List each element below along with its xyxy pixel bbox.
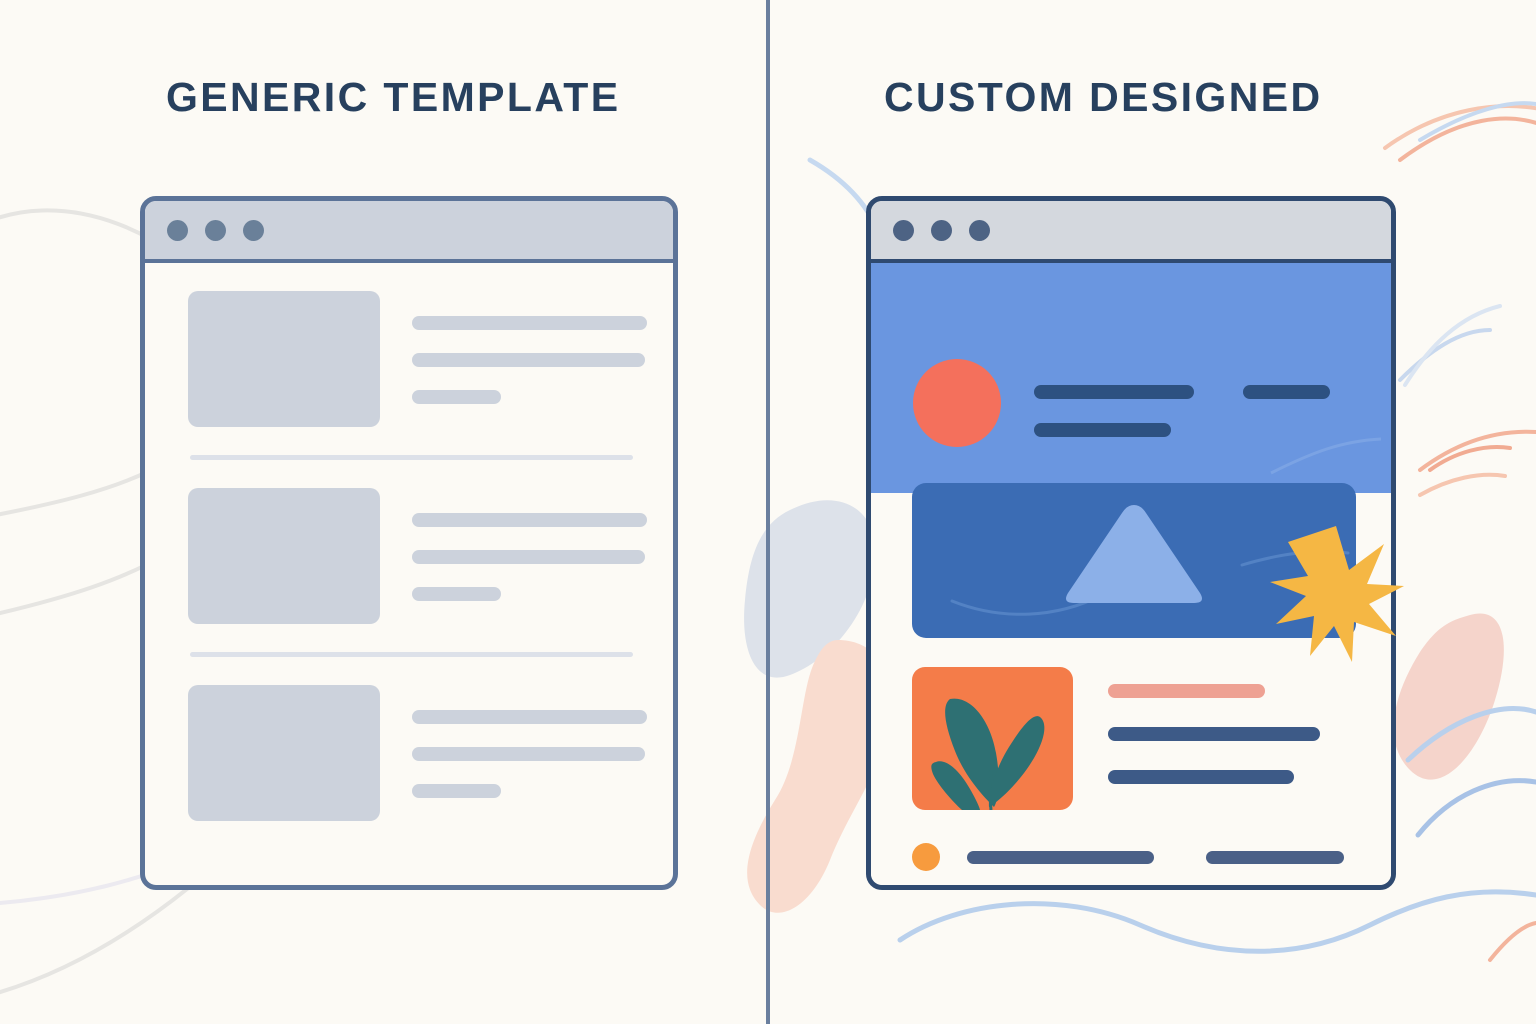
bullet-list-item[interactable] <box>912 843 1367 871</box>
bullet-text-line <box>967 851 1154 864</box>
plant-leaves-icon <box>912 667 1073 810</box>
window-dot-minimize-icon[interactable] <box>205 220 226 241</box>
decor-curve-coral-lower <box>1430 447 1510 470</box>
window-dot-close-icon[interactable] <box>893 220 914 241</box>
generic-window-titlebar <box>145 201 673 263</box>
decor-curve-blue-3 <box>1408 709 1536 760</box>
hero-nav-bar[interactable] <box>1243 385 1330 399</box>
left-panel-title: GENERIC TEMPLATE <box>166 74 621 121</box>
right-panel-title: CUSTOM DESIGNED <box>884 74 1322 121</box>
hero-logo-circle <box>913 359 1001 447</box>
image-placeholder <box>188 488 380 624</box>
starburst-accent-icon <box>1266 524 1406 664</box>
text-placeholder-line <box>412 587 501 601</box>
generic-list-item[interactable] <box>145 263 673 427</box>
image-placeholder <box>188 685 380 821</box>
comparison-graphic: GENERIC TEMPLATE CUSTOM DESIGNED <box>0 0 1536 1024</box>
bullet-dot-icon <box>912 843 940 871</box>
plant-image-card[interactable] <box>912 667 1073 810</box>
hero-banner <box>871 263 1391 493</box>
window-dot-close-icon[interactable] <box>167 220 188 241</box>
decor-curve-coral-mid <box>1420 432 1536 470</box>
generic-browser-window <box>140 196 678 890</box>
window-dot-minimize-icon[interactable] <box>931 220 952 241</box>
body-text-line <box>1108 770 1294 784</box>
play-triangle-icon <box>1066 505 1202 603</box>
decor-curve-coral-top <box>1400 119 1536 160</box>
generic-list-item[interactable] <box>145 657 673 821</box>
generic-window-content <box>145 263 673 821</box>
text-placeholder-group <box>412 291 647 404</box>
decor-blob-blue-gray <box>744 500 875 677</box>
decor-curve-blue-4 <box>1418 781 1536 835</box>
decor-curve-coral-top2 <box>1385 106 1536 148</box>
text-placeholder-group <box>412 685 647 798</box>
bullet-text-line-secondary <box>1206 851 1344 864</box>
text-placeholder-line <box>412 550 645 564</box>
decor-blob-pink <box>1394 613 1504 779</box>
accent-text-line <box>1108 684 1265 698</box>
text-placeholder-line <box>412 784 501 798</box>
decor-curve-blue-1 <box>1400 330 1490 380</box>
decor-curve-coral-small <box>1420 475 1505 495</box>
text-placeholder-group <box>412 488 647 601</box>
text-placeholder-line <box>412 710 647 724</box>
text-placeholder-line <box>412 316 647 330</box>
bullet-list <box>912 843 1367 890</box>
image-placeholder <box>188 291 380 427</box>
decor-curve-blue-2 <box>1405 306 1500 385</box>
window-dot-maximize-icon[interactable] <box>243 220 264 241</box>
hero-subline-bar <box>1034 423 1171 437</box>
window-dot-maximize-icon[interactable] <box>969 220 990 241</box>
content-text-group <box>1108 667 1362 784</box>
text-placeholder-line <box>412 513 647 527</box>
text-placeholder-line <box>412 353 645 367</box>
content-feature-row <box>912 667 1362 810</box>
generic-list-item[interactable] <box>145 460 673 624</box>
custom-window-titlebar <box>871 201 1391 263</box>
decor-curve-blue-5 <box>900 892 1536 951</box>
hero-headline-bar <box>1034 385 1194 399</box>
body-text-line <box>1108 727 1320 741</box>
decor-curve-coral-bottomright <box>1490 923 1536 960</box>
decor-curve-blue-7 <box>1420 103 1536 140</box>
text-placeholder-line <box>412 390 501 404</box>
panel-divider <box>766 0 770 1024</box>
text-placeholder-line <box>412 747 645 761</box>
